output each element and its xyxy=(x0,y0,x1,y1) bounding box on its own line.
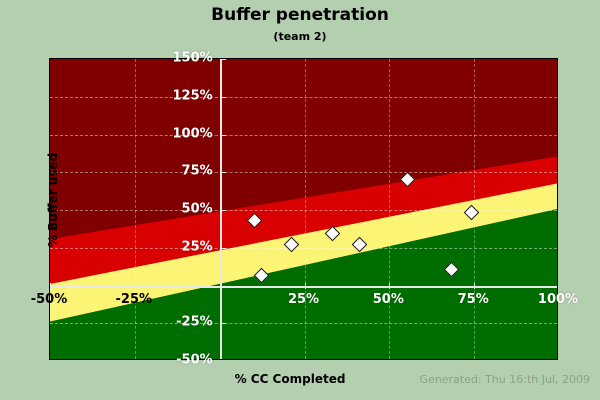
gridline-vertical xyxy=(135,59,136,359)
x-tick-label: 100% xyxy=(538,292,578,307)
x-tick-label: 50% xyxy=(373,292,404,307)
x-tick-label: 25% xyxy=(288,292,319,307)
x-axis-line xyxy=(50,286,557,288)
gridline-horizontal xyxy=(50,135,557,136)
y-tick-label: 25% xyxy=(161,239,213,254)
gridline-horizontal xyxy=(50,172,557,173)
chart-title: Buffer penetration xyxy=(0,5,600,25)
x-axis-tick xyxy=(305,283,306,289)
x-tick-label: 75% xyxy=(458,292,489,307)
x-axis-tick xyxy=(389,283,390,289)
y-tick-label: 125% xyxy=(161,88,213,103)
gridline-vertical xyxy=(305,59,306,359)
x-axis-title: % CC Completed xyxy=(190,372,390,386)
y-tick-label: 100% xyxy=(161,126,213,141)
y-axis-tick xyxy=(220,210,226,211)
x-tick-label: -25% xyxy=(116,292,153,307)
y-axis-tick xyxy=(220,97,226,98)
chart-subtitle: (team 2) xyxy=(0,30,600,43)
y-axis-tick xyxy=(220,323,226,324)
x-axis-tick xyxy=(474,283,475,289)
y-axis-title: % Buffer used xyxy=(46,153,60,247)
gridline-horizontal xyxy=(50,97,557,98)
generated-note: Generated: Thu 16:th Jul, 2009 xyxy=(420,373,590,386)
zone-bands xyxy=(50,59,557,359)
y-axis-tick xyxy=(220,248,226,249)
y-axis-tick xyxy=(220,135,226,136)
y-axis-tick xyxy=(220,286,226,287)
zone-bands-svg xyxy=(50,59,557,359)
gridline-horizontal xyxy=(50,210,557,211)
y-tick-label: 75% xyxy=(161,164,213,179)
y-axis-tick xyxy=(220,59,226,60)
y-axis-line xyxy=(220,59,222,359)
y-tick-label: -50% xyxy=(161,353,213,368)
gridline-vertical xyxy=(389,59,390,359)
x-axis-tick xyxy=(50,283,51,289)
y-tick-label: 150% xyxy=(161,51,213,66)
y-axis-tick xyxy=(220,172,226,173)
x-axis-tick xyxy=(135,283,136,289)
y-tick-label: -25% xyxy=(161,315,213,330)
gridline-horizontal xyxy=(50,248,557,249)
plot-area xyxy=(49,58,558,360)
fever-chart: Buffer penetration (team 2) -50%-25%25%5… xyxy=(0,0,600,400)
x-tick-label: -50% xyxy=(31,292,68,307)
gridline-horizontal xyxy=(50,323,557,324)
y-tick-label: 50% xyxy=(161,202,213,217)
